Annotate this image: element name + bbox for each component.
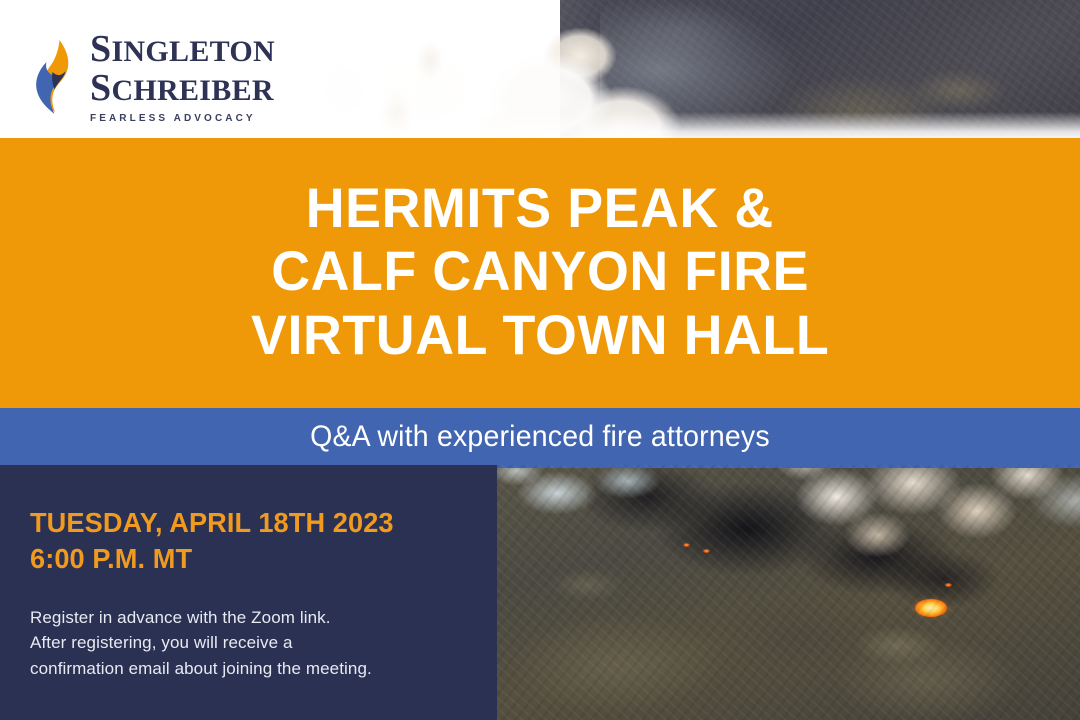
- fire-ember: [703, 549, 710, 553]
- subtitle-text: Q&A with experienced fire attorneys: [310, 420, 770, 454]
- bottom-wildfire-photo: [497, 465, 1080, 720]
- fire-ember: [945, 583, 952, 587]
- event-time: 6:00 P.M. MT: [30, 541, 462, 577]
- bottom-photo-pale-smoke: [497, 465, 727, 555]
- event-date: TUESDAY, APRIL 18TH 2023: [30, 505, 462, 541]
- title-line-2: CALF CANYON FIRE: [271, 239, 809, 302]
- brand-wordmark: SINGLETON SCHREIBER FEARLESS ADVOCACY: [90, 30, 275, 124]
- header-band: SINGLETON SCHREIBER FEARLESS ADVOCACY: [0, 0, 1080, 138]
- brand-logo[interactable]: SINGLETON SCHREIBER FEARLESS ADVOCACY: [28, 30, 275, 124]
- fire-ember: [683, 543, 690, 547]
- brand-name-line2: SCHREIBER: [90, 69, 275, 108]
- event-flyer: SINGLETON SCHREIBER FEARLESS ADVOCACY HE…: [0, 0, 1080, 720]
- bottom-photo-top-edge: [497, 465, 1080, 468]
- registration-line: confirmation email about joining the mee…: [30, 656, 475, 682]
- registration-instructions: Register in advance with the Zoom link. …: [30, 605, 475, 682]
- registration-line: Register in advance with the Zoom link.: [30, 605, 475, 631]
- bottom-photo-fire-hotspot: [901, 591, 963, 625]
- brand-tagline: FEARLESS ADVOCACY: [90, 113, 275, 124]
- title-band: HERMITS PEAK & CALF CANYON FIRE VIRTUAL …: [0, 138, 1080, 408]
- title-line-3: VIRTUAL TOWN HALL: [251, 303, 829, 366]
- title-line-1: HERMITS PEAK &: [306, 176, 774, 239]
- flame-logo-icon: [28, 38, 78, 116]
- bottom-band: TUESDAY, APRIL 18TH 2023 6:00 P.M. MT Re…: [0, 465, 1080, 720]
- subtitle-band: Q&A with experienced fire attorneys: [0, 408, 1080, 465]
- brand-name-line1: SINGLETON: [90, 30, 275, 69]
- bottom-photo-smoke-plume: [727, 465, 1080, 601]
- registration-line: After registering, you will receive a: [30, 630, 475, 656]
- fire-core: [915, 599, 947, 617]
- event-info-panel: TUESDAY, APRIL 18TH 2023 6:00 P.M. MT Re…: [0, 465, 497, 720]
